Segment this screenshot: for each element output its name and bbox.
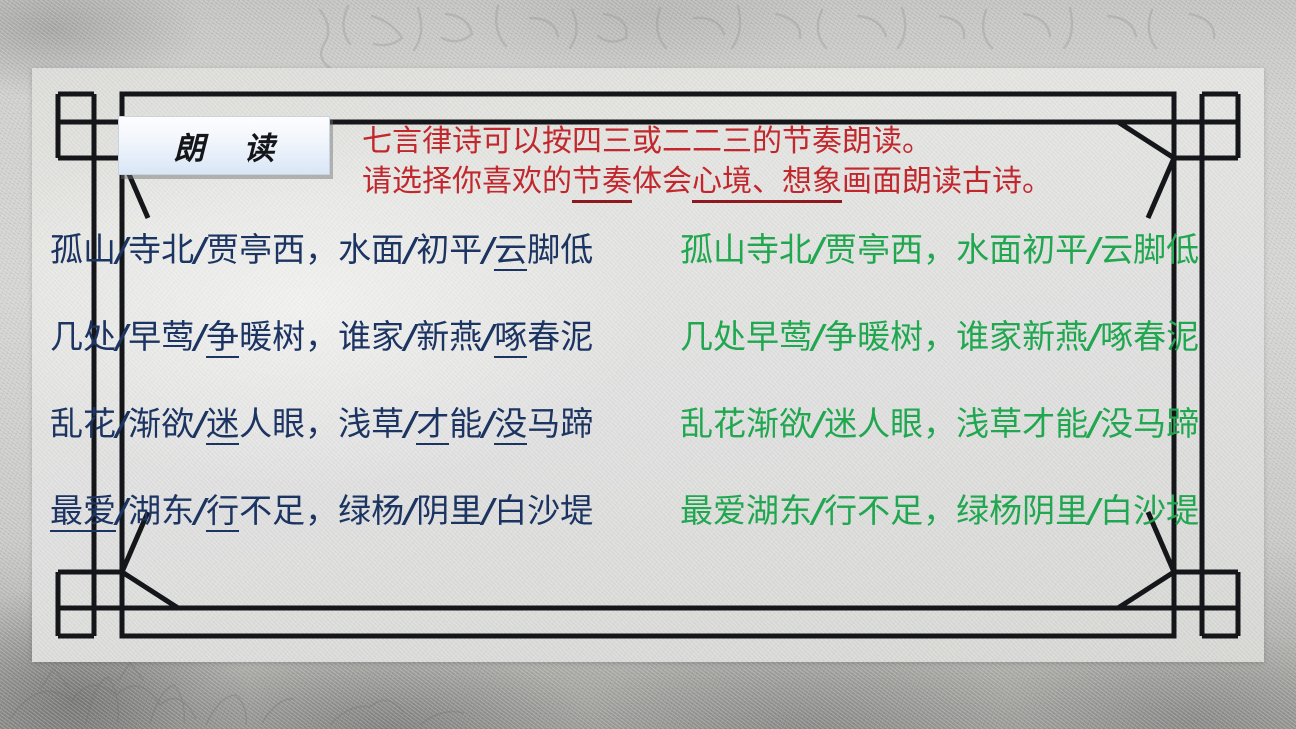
- poem-line-left-4: 最爱/湖东/行不足，绿杨/阴里/白沙堤: [50, 489, 593, 533]
- poem-separator: /: [404, 404, 416, 443]
- poem-line-left-3: 乱花/渐欲/迷人眼，浅草/才能/没马蹄: [50, 402, 593, 446]
- instruction-emphasis-rhythm: 节奏: [572, 164, 632, 203]
- content-panel: 朗 读 七言律诗可以按四三或二二三的节奏朗读。 请选择你喜欢的节奏体会心境、想象…: [32, 68, 1264, 662]
- poem-separator: /: [116, 317, 128, 356]
- poem-segment: 乱花: [50, 404, 116, 443]
- poem-segment: 浅草才能: [956, 404, 1088, 443]
- poem-separator: /: [116, 491, 128, 530]
- poem-segment: 春泥: [527, 317, 593, 356]
- poem-segment: 几处: [50, 317, 116, 356]
- poem-segment: 早莺: [128, 317, 194, 356]
- poem-segment: 孤山: [50, 230, 116, 269]
- poem-segment: 最爱湖东: [680, 491, 812, 530]
- poem-segment: 能: [449, 404, 482, 443]
- poem-row: 几处/早莺/争暖树，谁家/新燕/啄春泥 几处早莺/争暖树，谁家新燕/啄春泥: [32, 315, 1264, 402]
- poem-segment: 争暖树，: [824, 317, 956, 356]
- instruction-text: 七言律诗可以按四三或二二三的节奏朗读。 请选择你喜欢的节奏体会心境、想象画面朗读…: [362, 122, 1252, 202]
- poem-line-right-1: 孤山寺北/贾亭西，水面初平/云脚低: [680, 228, 1199, 272]
- poem-segment: 绿杨: [338, 491, 404, 530]
- poem-separator: /: [1088, 404, 1100, 443]
- poem-segment: 不足，: [239, 491, 338, 530]
- poem-segment: 渐欲: [128, 404, 194, 443]
- poem-separator: /: [1088, 230, 1100, 269]
- poem-separator: /: [812, 317, 824, 356]
- poem-segment: 行: [206, 491, 239, 532]
- poem-segment: 才: [416, 404, 449, 445]
- poem-separator: /: [482, 230, 494, 269]
- poem-row: 最爱/湖东/行不足，绿杨/阴里/白沙堤 最爱湖东/行不足，绿杨阴里/白沙堤: [32, 489, 1264, 576]
- poem-segment: 没马蹄: [1100, 404, 1199, 443]
- poem-separator: /: [116, 404, 128, 443]
- poem-segment: 行不足，: [824, 491, 956, 530]
- poem-separator: /: [1088, 317, 1100, 356]
- poem-separator: /: [194, 230, 206, 269]
- section-title-plate: 朗 读: [118, 116, 330, 175]
- poem-separator: /: [194, 404, 206, 443]
- poem-segment: 脚低: [527, 230, 593, 269]
- poem-segment: 云: [494, 230, 527, 271]
- poem-segment: 浅草: [338, 404, 404, 443]
- poem-segment: 绿杨阴里: [956, 491, 1088, 530]
- poem-segment: 湖东: [128, 491, 194, 530]
- poem-segment: 白沙堤: [494, 491, 593, 530]
- poem-segment: 马蹄: [527, 404, 593, 443]
- poem-segment: 谁家新燕: [956, 317, 1088, 356]
- section-title-label: 朗 读: [160, 123, 289, 168]
- poem-segment: 贾亭西，: [206, 230, 338, 269]
- poem-segment: 白沙堤: [1100, 491, 1199, 530]
- instruction-line-1-text: 七言律诗可以按四三或二二三的节奏朗读。: [362, 124, 932, 159]
- poem-separator: /: [812, 230, 824, 269]
- instruction-line-2: 请选择你喜欢的节奏体会心境、想象画面朗读古诗。: [362, 162, 1252, 202]
- poem-separator: /: [194, 317, 206, 356]
- poem-segment: 阴里: [416, 491, 482, 530]
- poem-separator: /: [194, 491, 206, 530]
- poem-segment: 争: [206, 317, 239, 358]
- poem-segment: 贾亭西，: [824, 230, 956, 269]
- poem-separator: /: [1088, 491, 1100, 530]
- instruction-line-2-part-b: 体会: [632, 164, 692, 199]
- poem-separator: /: [404, 317, 416, 356]
- poem-row: 孤山/寺北/贾亭西，水面/初平/云脚低 孤山寺北/贾亭西，水面初平/云脚低: [32, 228, 1264, 315]
- poem-segment: 新燕: [416, 317, 482, 356]
- poem-separator: /: [404, 491, 416, 530]
- poem-segment: 谁家: [338, 317, 404, 356]
- instruction-line-2-part-a: 请选择你喜欢的: [362, 164, 572, 199]
- poem-segment: 水面: [338, 230, 404, 269]
- poem-segment: 孤山寺北: [680, 230, 812, 269]
- poem-separator: /: [812, 404, 824, 443]
- poem-line-right-3: 乱花渐欲/迷人眼，浅草才能/没马蹄: [680, 402, 1199, 446]
- poem-line-left-2: 几处/早莺/争暖树，谁家/新燕/啄春泥: [50, 315, 593, 359]
- poem-separator: /: [812, 491, 824, 530]
- poem-separator: /: [482, 491, 494, 530]
- poem-line-right-4: 最爱湖东/行不足，绿杨阴里/白沙堤: [680, 489, 1199, 533]
- instruction-line-2-part-c: 画面朗读古诗。: [842, 164, 1052, 199]
- poem-segment: 乱花渐欲: [680, 404, 812, 443]
- poem-line-left-1: 孤山/寺北/贾亭西，水面/初平/云脚低: [50, 228, 593, 272]
- poem-segment: 迷人眼，: [824, 404, 956, 443]
- poem-separator: /: [482, 317, 494, 356]
- instruction-emphasis-mood: 心境、想象: [692, 164, 842, 203]
- poem-segment: 啄春泥: [1100, 317, 1199, 356]
- poem-separator: /: [404, 230, 416, 269]
- poem-grid: 孤山/寺北/贾亭西，水面/初平/云脚低 孤山寺北/贾亭西，水面初平/云脚低 几处…: [32, 228, 1264, 576]
- poem-segment: 几处早莺: [680, 317, 812, 356]
- poem-segment: 啄: [494, 317, 527, 358]
- poem-segment: 没: [494, 404, 527, 445]
- poem-segment: 云脚低: [1100, 230, 1199, 269]
- poem-segment: 最爱: [50, 491, 116, 532]
- instruction-line-1: 七言律诗可以按四三或二二三的节奏朗读。: [362, 122, 1252, 162]
- poem-segment: 初平: [416, 230, 482, 269]
- poem-segment: 迷: [206, 404, 239, 445]
- poem-segment: 人眼，: [239, 404, 338, 443]
- poem-line-right-2: 几处早莺/争暖树，谁家新燕/啄春泥: [680, 315, 1199, 359]
- poem-segment: 暖树，: [239, 317, 338, 356]
- poem-segment: 水面初平: [956, 230, 1088, 269]
- poem-row: 乱花/渐欲/迷人眼，浅草/才能/没马蹄 乱花渐欲/迷人眼，浅草才能/没马蹄: [32, 402, 1264, 489]
- poem-separator: /: [482, 404, 494, 443]
- poem-segment: 寺北: [128, 230, 194, 269]
- poem-separator: /: [116, 230, 128, 269]
